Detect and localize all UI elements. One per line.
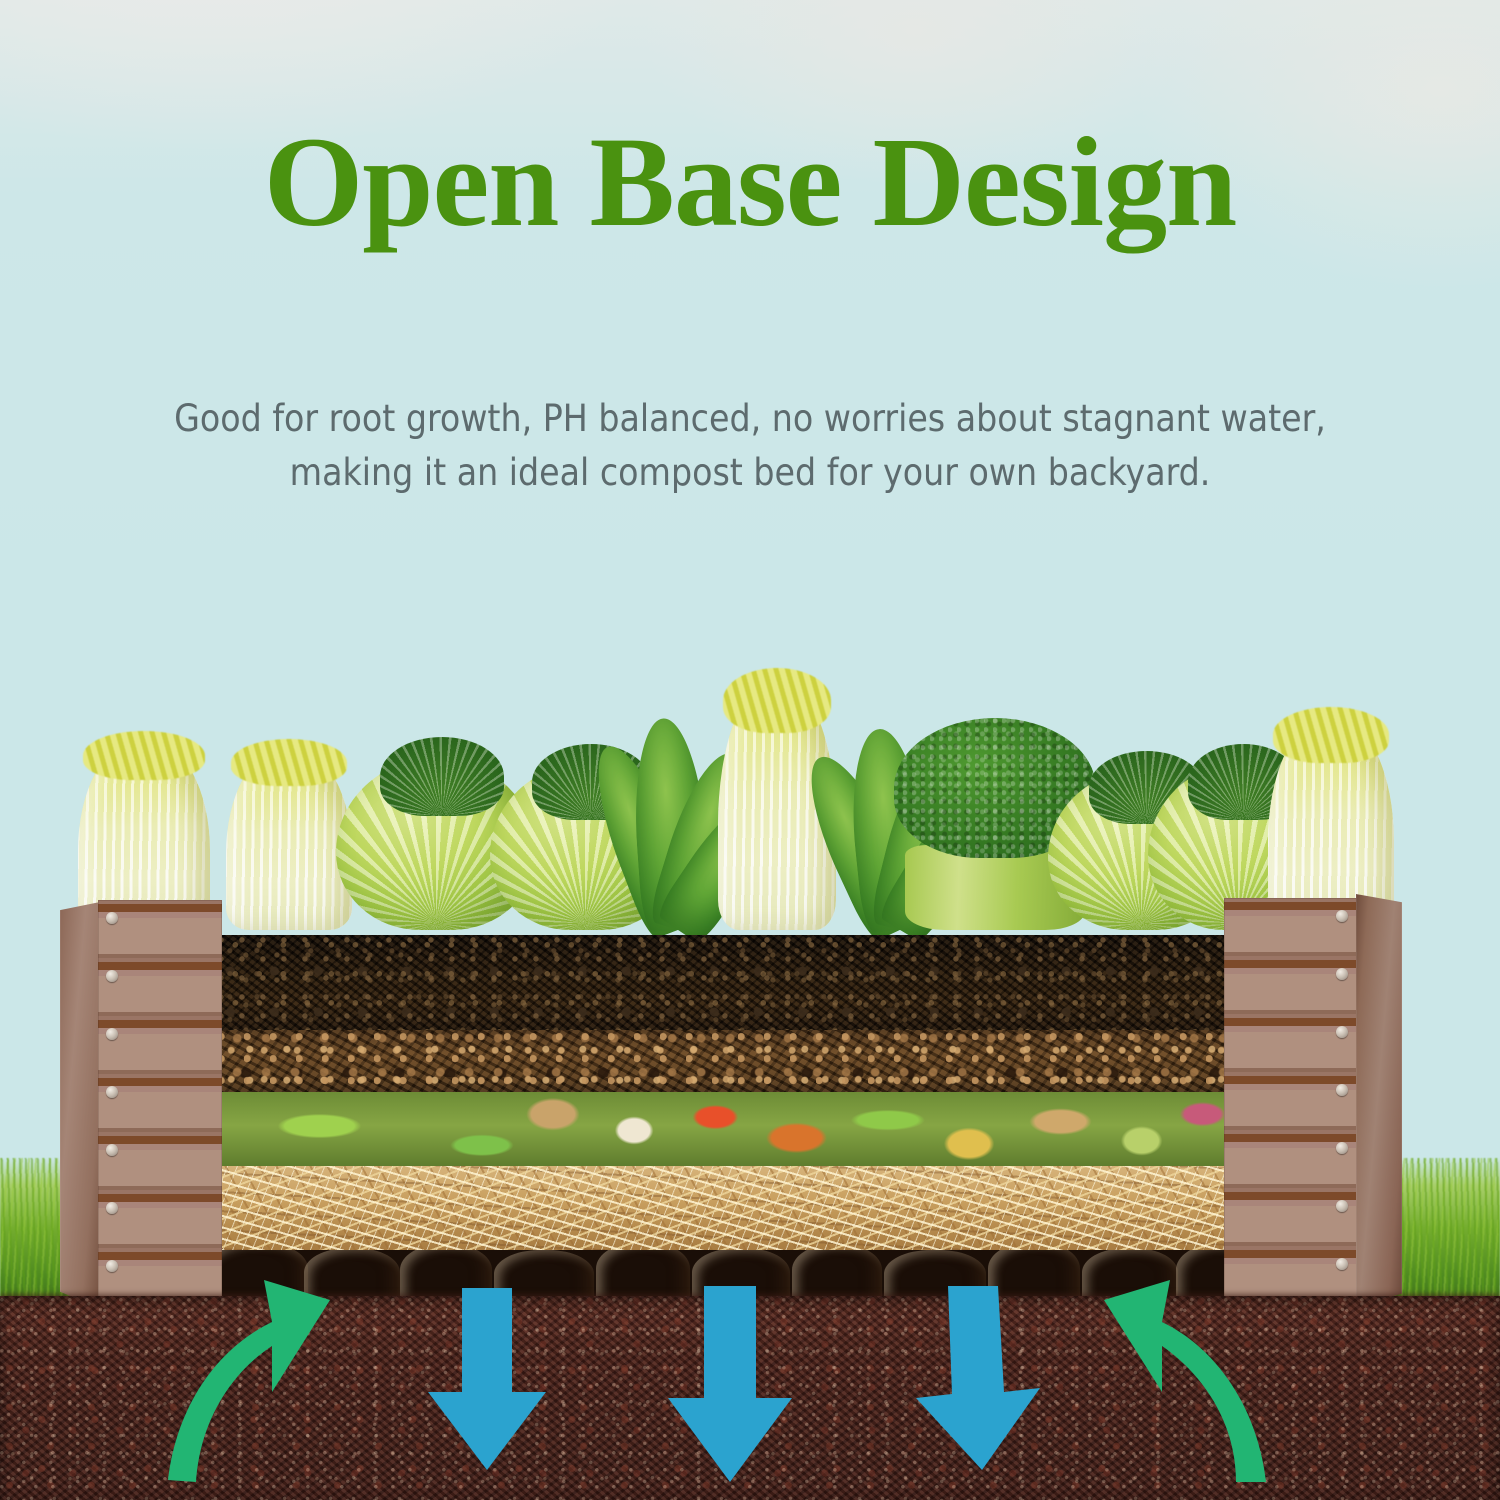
panel-screw bbox=[106, 1028, 118, 1040]
soil-layer-stack bbox=[218, 935, 1233, 1316]
panel-screw bbox=[106, 912, 118, 924]
panel-screw bbox=[1336, 1026, 1348, 1038]
panel-screw bbox=[1336, 910, 1348, 922]
panel-screw bbox=[1336, 1200, 1348, 1212]
layer-topsoil bbox=[218, 935, 1233, 1030]
panel-screw bbox=[1336, 1142, 1348, 1154]
panel-screw bbox=[1336, 968, 1348, 980]
panel-screw bbox=[106, 1144, 118, 1156]
bed-side-panel-left bbox=[98, 900, 222, 1310]
panel-screw bbox=[106, 1202, 118, 1214]
bed-side-panel-right bbox=[1224, 898, 1358, 1308]
infographic-poster: Open Base Design Good for root growth, P… bbox=[0, 0, 1500, 1500]
panel-screw bbox=[106, 970, 118, 982]
layer-compost bbox=[218, 1030, 1233, 1092]
raised-garden-bed bbox=[0, 0, 1500, 1500]
layer-food-scraps bbox=[218, 1092, 1233, 1166]
panel-screw bbox=[106, 1260, 118, 1272]
panel-screw bbox=[106, 1086, 118, 1098]
bed-corner-post-right bbox=[1356, 894, 1402, 1306]
panel-screw bbox=[1336, 1258, 1348, 1270]
bed-corner-post-left bbox=[60, 902, 100, 1308]
ground-soil bbox=[0, 1296, 1500, 1500]
panel-screw bbox=[1336, 1084, 1348, 1096]
layer-straw bbox=[218, 1166, 1233, 1250]
